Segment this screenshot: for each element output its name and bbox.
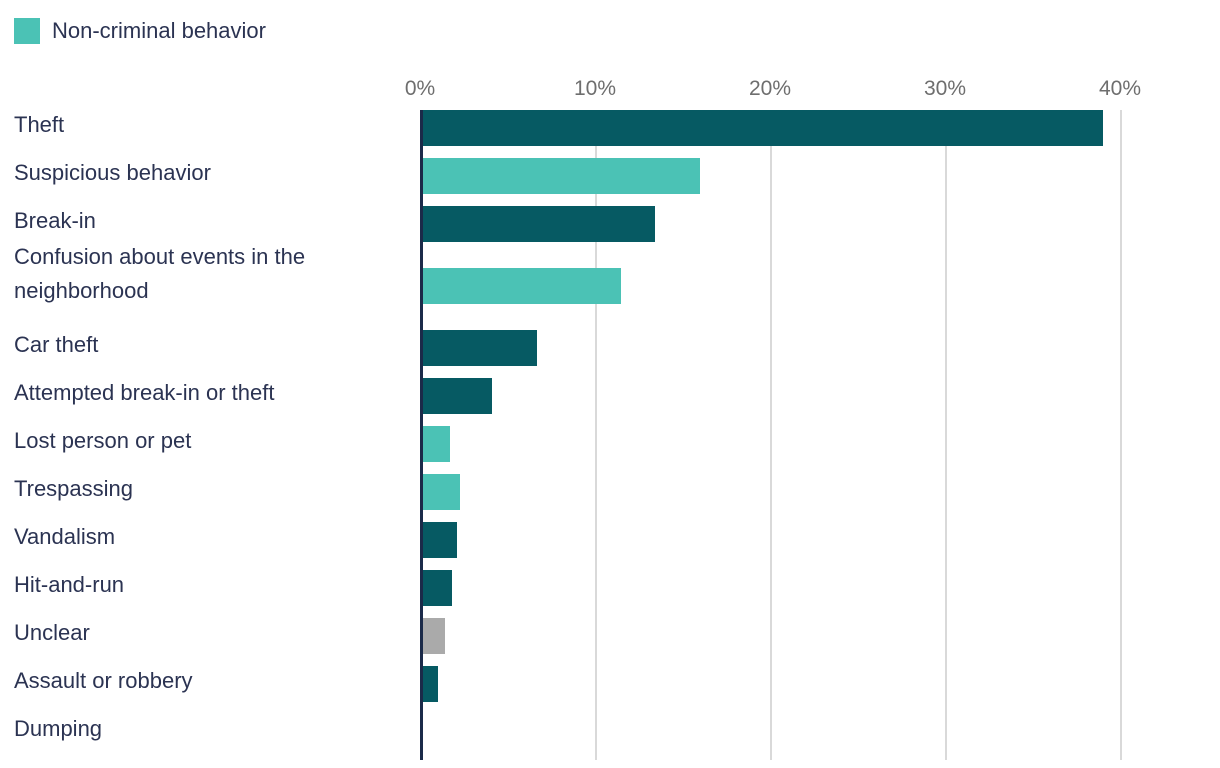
- bar-break-in[interactable]: [420, 206, 655, 242]
- category-axis-labels: TheftSuspicious behaviorBreak-inConfusio…: [0, 110, 410, 760]
- plot-area: [420, 110, 1120, 760]
- x-axis-tick-10%: 10%: [574, 74, 616, 104]
- bar-unclear[interactable]: [420, 618, 445, 654]
- bar-chart: 0%10%20%30%40% TheftSuspicious behaviorB…: [0, 0, 1220, 768]
- bar-vandalism[interactable]: [420, 522, 457, 558]
- gridline-20%: [770, 110, 772, 760]
- x-axis-tick-0%: 0%: [405, 74, 435, 104]
- category-label-unclear: Unclear: [14, 616, 410, 650]
- gridline-30%: [945, 110, 947, 760]
- bar-attempted-break-in-or-theft[interactable]: [420, 378, 492, 414]
- category-label-confusion-about-events-in-the-neighborhood: Confusion about events in the neighborho…: [14, 240, 410, 308]
- bar-trespassing[interactable]: [420, 474, 460, 510]
- category-label-hit-and-run: Hit-and-run: [14, 568, 410, 602]
- category-label-assault-or-robbery: Assault or robbery: [14, 664, 410, 698]
- x-axis-tick-40%: 40%: [1099, 74, 1141, 104]
- x-axis-tick-30%: 30%: [924, 74, 966, 104]
- category-label-trespassing: Trespassing: [14, 472, 410, 506]
- bar-lost-person-or-pet[interactable]: [420, 426, 450, 462]
- bar-confusion-about-events-in-the-neighborhood[interactable]: [420, 268, 621, 304]
- bar-theft[interactable]: [420, 110, 1103, 146]
- x-axis-tick-20%: 20%: [749, 74, 791, 104]
- gridline-40%: [1120, 110, 1122, 760]
- bar-hit-and-run[interactable]: [420, 570, 452, 606]
- category-label-theft: Theft: [14, 108, 410, 142]
- category-label-attempted-break-in-or-theft: Attempted break-in or theft: [14, 376, 410, 410]
- y-axis-line: [420, 110, 423, 760]
- bar-suspicious-behavior[interactable]: [420, 158, 700, 194]
- category-label-suspicious-behavior: Suspicious behavior: [14, 156, 410, 190]
- x-axis-tick-labels: 0%10%20%30%40%: [0, 74, 1220, 104]
- category-label-dumping: Dumping: [14, 712, 410, 746]
- category-label-car-theft: Car theft: [14, 328, 410, 362]
- bar-car-theft[interactable]: [420, 330, 537, 366]
- category-label-vandalism: Vandalism: [14, 520, 410, 554]
- category-label-lost-person-or-pet: Lost person or pet: [14, 424, 410, 458]
- category-label-break-in: Break-in: [14, 204, 410, 238]
